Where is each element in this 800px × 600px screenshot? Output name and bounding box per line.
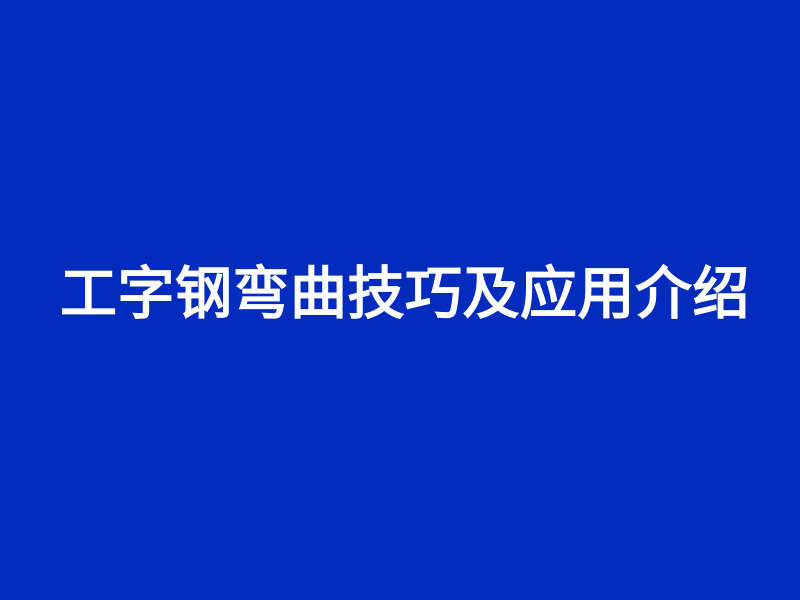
title-card-canvas: 工字钢弯曲技巧及应用介绍: [0, 0, 800, 600]
headline-block: 工字钢弯曲技巧及应用介绍: [60, 0, 750, 600]
page-title: 工字钢弯曲技巧及应用介绍: [60, 264, 750, 326]
